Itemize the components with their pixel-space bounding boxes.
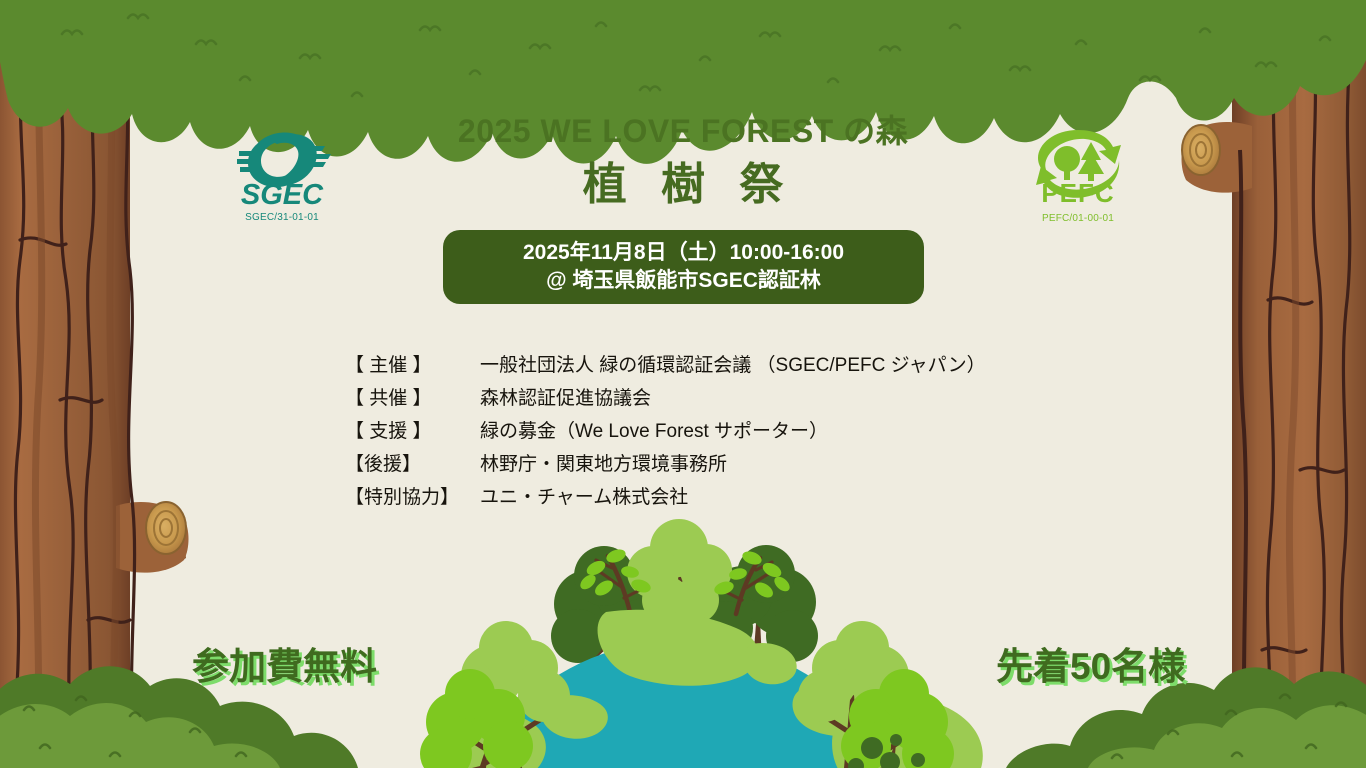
sgec-code: SGEC/31-01-01 bbox=[222, 212, 342, 223]
credit-row: 【 支援 】 緑の募金（We Love Forest サポーター） bbox=[345, 416, 1065, 449]
credits-list: 【 主催 】 一般社団法人 緑の循環認証会議 （SGEC/PEFC ジャパン） … bbox=[345, 350, 1065, 515]
credit-label: 【 主催 】 bbox=[345, 350, 480, 377]
credit-value: 一般社団法人 緑の循環認証会議 （SGEC/PEFC ジャパン） bbox=[480, 350, 986, 377]
slogan-free-admission: 参加費無料 bbox=[192, 636, 377, 690]
poster-title-japanese: 植 樹 祭 bbox=[0, 148, 1366, 212]
credit-label: 【 共催 】 bbox=[345, 383, 480, 410]
credit-row: 【 共催 】 森林認証促進協議会 bbox=[345, 383, 1065, 416]
credit-value: 林野庁・関東地方環境事務所 bbox=[480, 449, 727, 476]
credit-label: 【 支援 】 bbox=[345, 416, 480, 443]
poster-canvas: SGEC SGEC/31-01-01 PEFC PEFC/01-00-01 bbox=[0, 0, 1366, 768]
credit-value: 森林認証促進協議会 bbox=[480, 383, 651, 410]
slogan-capacity: 先着50名様 bbox=[996, 636, 1185, 690]
pefc-code: PEFC/01-00-01 bbox=[1018, 213, 1138, 224]
credit-row: 【後援】 林野庁・関東地方環境事務所 bbox=[345, 449, 1065, 482]
event-location: @ 埼玉県飯能市SGEC認証林 bbox=[546, 267, 821, 295]
poster-title-english: 2025 WE LOVE FOREST の森 bbox=[0, 106, 1366, 152]
credit-label: 【特別協力】 bbox=[345, 482, 480, 509]
event-date-banner: 2025年11月8日（土）10:00-16:00 @ 埼玉県飯能市SGEC認証林 bbox=[443, 230, 924, 304]
credit-row: 【特別協力】 ユニ・チャーム株式会社 bbox=[345, 482, 1065, 515]
event-datetime: 2025年11月8日（土）10:00-16:00 bbox=[523, 239, 844, 267]
credit-value: 緑の募金（We Love Forest サポーター） bbox=[480, 416, 828, 443]
credit-value: ユニ・チャーム株式会社 bbox=[480, 482, 688, 509]
credit-row: 【 主催 】 一般社団法人 緑の循環認証会議 （SGEC/PEFC ジャパン） bbox=[345, 350, 1065, 383]
credit-label: 【後援】 bbox=[345, 449, 480, 476]
